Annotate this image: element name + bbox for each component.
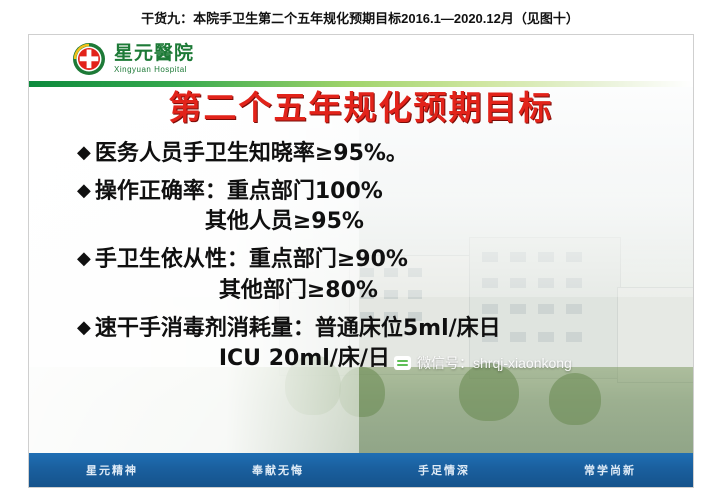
list-item: ◆ 医务人员手卫生知晓率≥95%。	[77, 141, 677, 167]
diamond-bullet-icon: ◆	[77, 179, 91, 203]
hospital-logo: 星元醫院 Xingyuan Hospital	[71, 41, 194, 77]
wechat-badge-icon	[394, 356, 411, 370]
page-caption: 干货九：本院手卫生第二个五年规化预期目标2016.1—2020.12月（见图十）	[0, 8, 720, 27]
footer-item: 奉献无悔	[252, 462, 304, 478]
list-item-text: 手卫生依从性：重点部门≥90%	[95, 247, 408, 273]
diamond-bullet-icon: ◆	[77, 247, 91, 271]
footer-item: 星元精神	[86, 462, 138, 478]
list-item-text: 医务人员手卫生知晓率≥95%。	[95, 141, 408, 167]
diamond-bullet-icon: ◆	[77, 316, 91, 340]
list-item-text: 速干手消毒剂消耗量：普通床位5ml/床日	[95, 316, 501, 342]
list-item-subtext: 其他部门≥80%	[219, 278, 408, 304]
slide-footer: 星元精神 奉献无悔 手足情深 常学尚新	[29, 453, 693, 487]
watermark-text: 微信号：shrqj-xiaonkong	[417, 353, 572, 373]
diamond-bullet-icon: ◆	[77, 141, 91, 165]
list-item-text: 操作正确率：重点部门100%	[95, 179, 383, 205]
list-item-subtext: 其他人员≥95%	[205, 209, 383, 235]
list-item: ◆ 速干手消毒剂消耗量：普通床位5ml/床日 ICU 20ml/床/日	[77, 316, 677, 372]
watermark: 微信号：shrqj-xiaonkong	[394, 353, 572, 373]
slide-page: 干货九：本院手卫生第二个五年规化预期目标2016.1—2020.12月（见图十）…	[0, 0, 720, 495]
slide-title: 第二个五年规化预期目标	[29, 81, 693, 129]
bullet-list: ◆ 医务人员手卫生知晓率≥95%。 ◆ 操作正确率：重点部门100% 其他人员≥…	[77, 141, 677, 384]
list-item: ◆ 手卫生依从性：重点部门≥90% 其他部门≥80%	[77, 247, 677, 303]
presentation-slide: 星元醫院 Xingyuan Hospital	[28, 34, 694, 488]
hospital-name-en: Xingyuan Hospital	[114, 66, 194, 74]
hospital-cross-logo-icon	[71, 41, 107, 77]
footer-item: 手足情深	[418, 462, 470, 478]
footer-item: 常学尚新	[584, 462, 636, 478]
list-item: ◆ 操作正确率：重点部门100% 其他人员≥95%	[77, 179, 677, 235]
hospital-name-cn: 星元醫院	[114, 44, 194, 63]
hospital-name: 星元醫院 Xingyuan Hospital	[114, 44, 194, 74]
slide-header: 星元醫院 Xingyuan Hospital	[29, 35, 693, 87]
